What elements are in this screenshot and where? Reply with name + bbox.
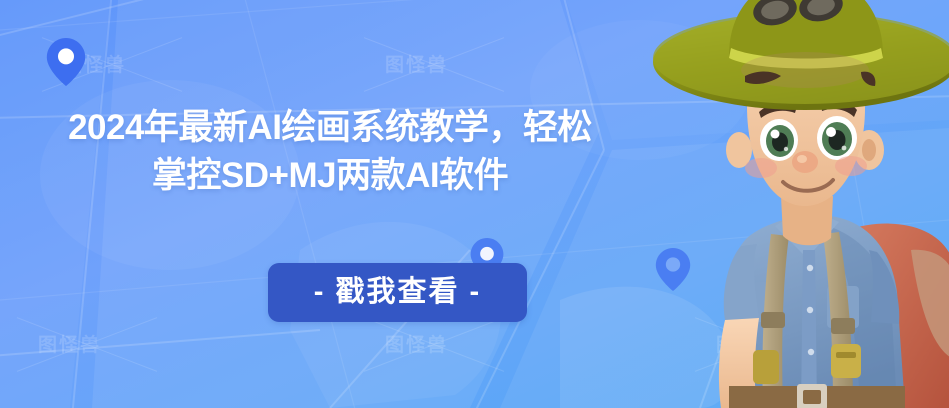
- watermark-bottom-center: 图怪兽: [385, 330, 448, 357]
- watermark-top-center: 图怪兽: [385, 50, 448, 77]
- poster-canvas: 图怪兽 图怪兽 图怪兽 图怪兽 图怪兽 图怪兽 2024年最新AI绘画系统教学，…: [0, 0, 949, 408]
- cartoon-explorer-boy-illustration: [625, 0, 949, 408]
- cta-button-label: - 戳我查看 -: [314, 278, 481, 307]
- page-title: 2024年最新AI绘画系统教学，轻松 掌控SD+MJ两款AI软件: [0, 104, 660, 200]
- cta-button[interactable]: - 戳我查看 -: [268, 263, 527, 322]
- watermark-bottom-left: 图怪兽: [38, 330, 101, 357]
- location-pin-top-left: [46, 38, 86, 86]
